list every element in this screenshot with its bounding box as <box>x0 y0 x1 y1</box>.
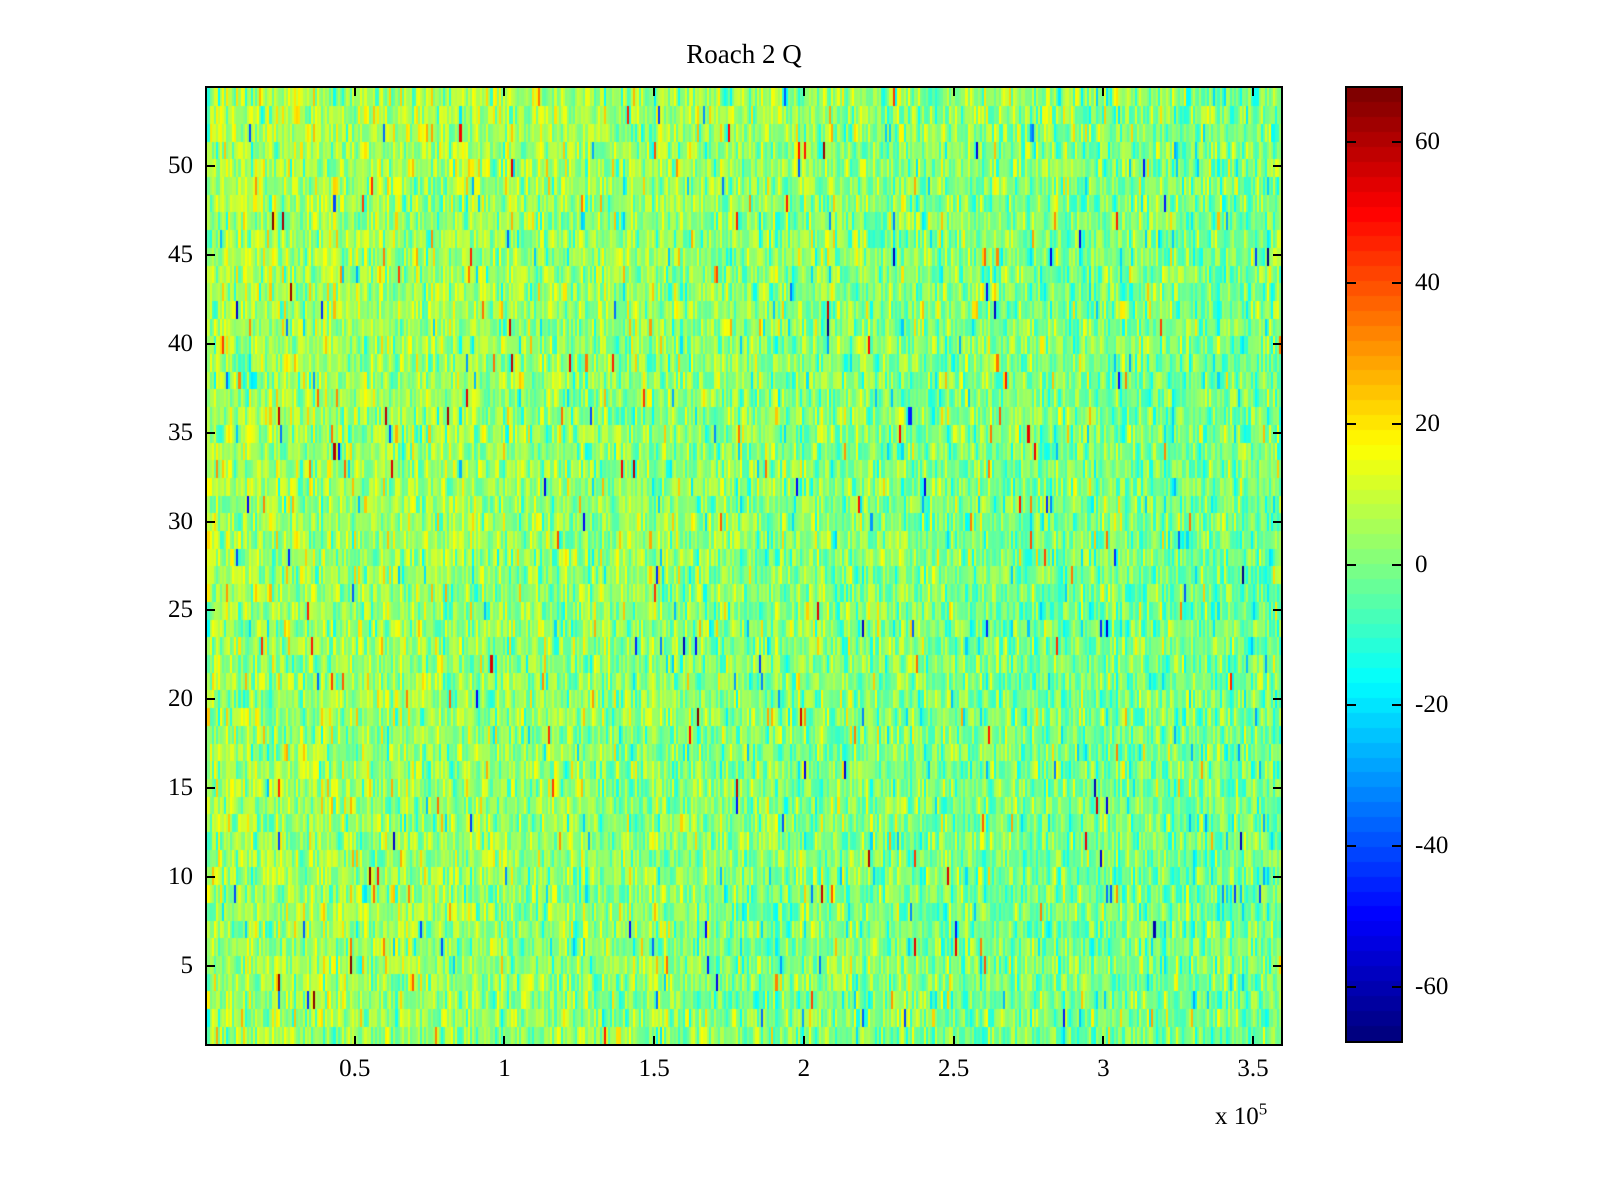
x-axis-tick-top <box>503 87 505 96</box>
colorbar-tick-label: -60 <box>1415 973 1448 1001</box>
colorbar-tick-left <box>1347 141 1356 143</box>
x-axis-tick <box>953 1036 955 1045</box>
matlab-figure-window: Roach 2 Q 0.511.522.533.5510152025303540… <box>0 0 1600 1200</box>
colorbar-tick-label: 0 <box>1415 551 1428 579</box>
y-axis-tick-right <box>1273 787 1282 789</box>
x-axis-tick <box>1252 1036 1254 1045</box>
y-axis-tick-label: 15 <box>168 774 193 802</box>
colorbar-tick-label: -20 <box>1415 691 1448 719</box>
x-axis-tick-top <box>1252 87 1254 96</box>
y-axis-tick-right <box>1273 521 1282 523</box>
x-axis-tick-label: 1 <box>498 1055 511 1083</box>
x-axis-tick-label: 3 <box>1097 1055 1110 1083</box>
colorbar-tick-left <box>1347 564 1356 566</box>
y-axis-tick <box>206 698 215 700</box>
x-axis-tick-label: 3.5 <box>1237 1055 1268 1083</box>
y-axis-tick <box>206 609 215 611</box>
y-axis-tick-right <box>1273 254 1282 256</box>
y-axis-tick-label: 35 <box>168 419 193 447</box>
y-axis-tick-right <box>1273 343 1282 345</box>
x-axis-tick-label: 1.5 <box>639 1055 670 1083</box>
colorbar-tick-right <box>1392 423 1401 425</box>
heatmap-axes[interactable] <box>205 86 1283 1046</box>
y-axis-tick-label: 20 <box>168 685 193 713</box>
colorbar-tick-right <box>1392 704 1401 706</box>
y-axis-tick-label: 40 <box>168 330 193 358</box>
y-axis-tick <box>206 787 215 789</box>
heatmap-image <box>207 88 1281 1044</box>
page-title: Roach 2 Q <box>205 40 1283 70</box>
y-axis-tick-label: 10 <box>168 863 193 891</box>
colorbar-tick-right <box>1392 845 1401 847</box>
x-axis-tick <box>803 1036 805 1045</box>
y-axis-tick-right <box>1273 609 1282 611</box>
x-axis-tick-label: 2.5 <box>938 1055 969 1083</box>
y-axis-tick-right <box>1273 432 1282 434</box>
colorbar-tick-right <box>1392 986 1401 988</box>
x-axis-exponent-mantissa: x 10 <box>1215 1103 1259 1130</box>
colorbar-tick-right <box>1392 282 1401 284</box>
colorbar-tick-label: 60 <box>1415 128 1440 156</box>
colorbar-tick-left <box>1347 282 1356 284</box>
y-axis-tick-right <box>1273 165 1282 167</box>
y-axis-tick <box>206 521 215 523</box>
x-axis-tick-top <box>354 87 356 96</box>
x-axis-tick-top <box>653 87 655 96</box>
x-axis-exponent-label: x 105 <box>1215 1103 1267 1131</box>
y-axis-tick-label: 5 <box>181 952 194 980</box>
y-axis-tick-label: 45 <box>168 241 193 269</box>
colorbar-tick-label: 40 <box>1415 269 1440 297</box>
y-axis-tick <box>206 965 215 967</box>
colorbar-tick-right <box>1392 564 1401 566</box>
colorbar-tick-label: 20 <box>1415 410 1440 438</box>
y-axis-tick-right <box>1273 876 1282 878</box>
y-axis-tick-label: 25 <box>168 596 193 624</box>
colorbar-tick-left <box>1347 986 1356 988</box>
x-axis-tick-top <box>953 87 955 96</box>
x-axis-exponent-power: 5 <box>1259 1100 1268 1119</box>
colorbar-tick-left <box>1347 845 1356 847</box>
y-axis-tick-right <box>1273 698 1282 700</box>
x-axis-tick <box>354 1036 356 1045</box>
y-axis-tick <box>206 432 215 434</box>
x-axis-tick <box>503 1036 505 1045</box>
x-axis-tick <box>1102 1036 1104 1045</box>
y-axis-tick <box>206 343 215 345</box>
colorbar-tick-left <box>1347 704 1356 706</box>
y-axis-tick <box>206 876 215 878</box>
y-axis-tick-label: 30 <box>168 508 193 536</box>
x-axis-tick-label: 2 <box>798 1055 811 1083</box>
y-axis-tick <box>206 165 215 167</box>
x-axis-tick <box>653 1036 655 1045</box>
x-axis-tick-top <box>803 87 805 96</box>
x-axis-tick-top <box>1102 87 1104 96</box>
y-axis-tick-right <box>1273 965 1282 967</box>
colorbar-tick-right <box>1392 141 1401 143</box>
colorbar-tick-left <box>1347 423 1356 425</box>
y-axis-tick-label: 50 <box>168 152 193 180</box>
y-axis-tick <box>206 254 215 256</box>
colorbar-tick-label: -40 <box>1415 832 1448 860</box>
x-axis-tick-label: 0.5 <box>339 1055 370 1083</box>
